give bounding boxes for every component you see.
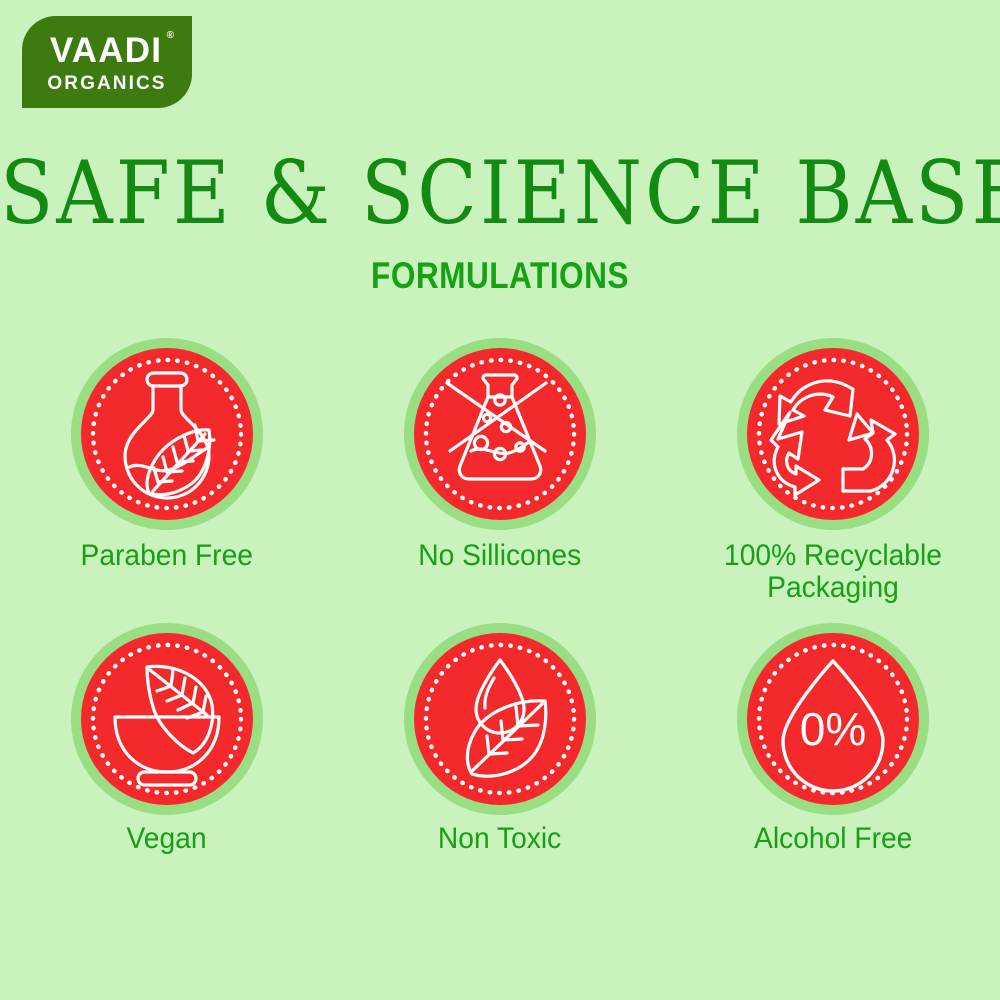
badge-label: Alcohol Free (754, 823, 912, 855)
badge-disc (81, 633, 253, 805)
droplet-zero-percent-icon: 0% (747, 633, 919, 805)
badge-disc (414, 348, 586, 520)
bowl-with-leaf-icon (81, 633, 253, 805)
badge-ring (404, 338, 596, 530)
badge-disc (81, 348, 253, 520)
badge-disc: 0% (747, 633, 919, 805)
badge-disc (414, 633, 586, 805)
brand-name: VAADI ® (50, 33, 164, 68)
droplet-with-leaf-icon (414, 633, 586, 805)
badge-label: Non Toxic (438, 823, 561, 855)
feature-badge-alcohol-free: 0% Alcohol Free (667, 623, 1000, 855)
recycle-icon (747, 348, 919, 520)
page-subtitle: FORMULATIONS (35, 258, 965, 295)
badge-ring: 0% (737, 623, 929, 815)
badge-label: No Sillicones (418, 540, 581, 572)
badge-ring (71, 338, 263, 530)
feature-badge-non-toxic: Non Toxic (333, 623, 666, 855)
badge-label: 100% Recyclable Packaging (702, 540, 965, 605)
round-flask-leaf-icon (81, 348, 253, 520)
badge-disc (747, 348, 919, 520)
page-title: SAFE & SCIENCE BASED (0, 150, 1000, 237)
feature-badge-vegan: Vegan (0, 623, 333, 855)
zero-percent-text: 0% (800, 703, 866, 755)
brand-subtitle: ORGANICS (47, 74, 166, 93)
registered-trademark-icon: ® (167, 31, 176, 41)
infographic-page: { "brand": { "name": "VAADI", "registere… (0, 0, 1000, 1000)
feature-badge-paraben-free: Paraben Free (0, 338, 333, 605)
feature-badge-no-sillicones: No Sillicones (333, 338, 666, 605)
badge-ring (71, 623, 263, 815)
brand-name-text: VAADI (50, 31, 162, 70)
badge-label: Vegan (127, 823, 207, 855)
brand-logo: VAADI ® ORGANICS (22, 16, 192, 108)
crossed-out-erlenmeyer-flask-icon (414, 348, 586, 520)
feature-badge-recyclable-packaging: 100% Recyclable Packaging (667, 338, 1000, 605)
feature-badge-grid: Paraben Free (0, 338, 1000, 855)
badge-ring (737, 338, 929, 530)
badge-ring (404, 623, 596, 815)
badge-label: Paraben Free (80, 540, 252, 572)
